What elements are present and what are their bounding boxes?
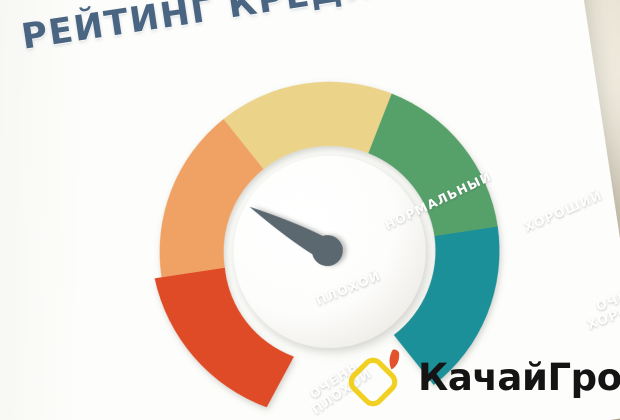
diamond-leaf-icon: [348, 347, 410, 407]
poster-image: РЕЙТИНГ КРЕДИТНОЙ ИСТОРИИ: [0, 0, 620, 420]
leaf-shape: [390, 350, 400, 370]
brand-name: КачайГроші: [418, 359, 620, 396]
brand-logo: КачайГроші: [348, 346, 620, 408]
